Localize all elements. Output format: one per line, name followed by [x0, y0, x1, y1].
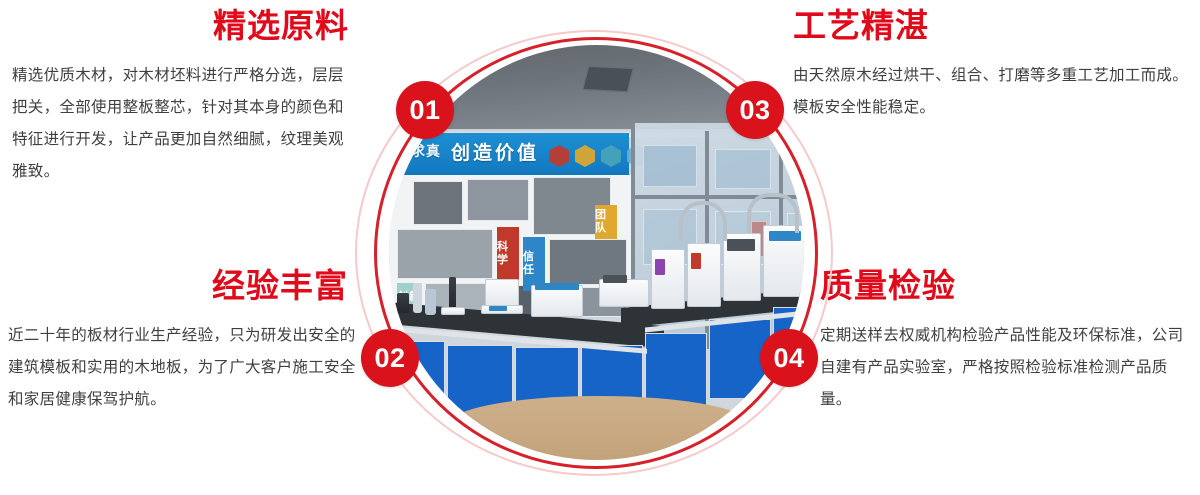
scene-glass-pane-photo: [643, 145, 697, 187]
feature-body-exquisite-craft: 由天然原木经过烘干、组合、打磨等多重工艺加工而成。模板安全性能稳定。: [793, 60, 1193, 124]
step-badge-03: 03: [726, 81, 784, 139]
scene-wall-label-science: 科学: [497, 227, 519, 281]
scene-analytical-balance: [485, 279, 519, 307]
scene-wall-photo: [467, 179, 529, 221]
feature-block-quality-inspection: 质量检验 定期送样去权威机构检验产品性能及环保标准，公司自建有产品实验室，严格按…: [820, 268, 1195, 416]
scene-ceiling-vent: [582, 66, 633, 92]
feature-title-quality-inspection: 质量检验: [820, 268, 1195, 304]
feature-title-exquisite-craft: 工艺精湛: [793, 8, 1193, 44]
feature-block-selected-materials: 精选原料 精选优质木材，对木材坯料进行严格分选，层层把关，全部使用整板整芯，针对…: [12, 8, 357, 188]
feature-title-selected-materials: 精选原料: [12, 8, 357, 44]
scene-banner-title: 创造价值: [451, 138, 539, 165]
scene-gas-generator: [651, 249, 685, 309]
scene-generator-indicator: [691, 253, 701, 269]
scene-lab-stand-base: [441, 307, 465, 315]
scene-wall-label-team: 团队: [595, 205, 617, 239]
scene-banner-prefix: 求真: [411, 141, 441, 161]
feature-block-exquisite-craft: 工艺精湛 由天然原木经过烘干、组合、打磨等多重工艺加工而成。模板安全性能稳定。: [793, 8, 1193, 124]
scene-generator-indicator: [655, 259, 665, 275]
scene-reagent-bottle: [413, 283, 422, 313]
feature-highlights-infographic: 精选原料 精选优质木材，对木材坯料进行严格分选，层层把关，全部使用整板整芯，针对…: [0, 0, 1200, 495]
feature-title-rich-experience: 经验丰富: [8, 268, 358, 304]
feature-body-quality-inspection: 定期送样去权威机构检验产品性能及环保标准，公司自建有产品实验室，严格按照检验标准…: [820, 320, 1195, 416]
scene-glass-pane-photo: [715, 149, 771, 189]
scene-spectrophotometer-top: [603, 275, 627, 283]
step-badge-02: 02: [361, 329, 419, 387]
scene-reagent-bottle: [425, 289, 436, 315]
scene-exhaust-pipe: [679, 201, 727, 241]
scene-floor: [449, 396, 749, 460]
scene-wall-photo: [397, 229, 493, 279]
scene-balance-display: [489, 306, 507, 311]
scene-bench-item: [397, 293, 409, 313]
scene-spectrophotometer: [599, 279, 649, 307]
scene-water-bath-lid: [535, 283, 579, 290]
scene-wall-photo: [413, 181, 463, 225]
feature-block-rich-experience: 经验丰富 近二十年的板材行业生产经验，只为研发出安全的建筑模板和实用的木地板，为…: [8, 268, 358, 416]
step-badge-04: 04: [760, 329, 818, 387]
scene-generator-display: [727, 239, 755, 251]
feature-body-rich-experience: 近二十年的板材行业生产经验，只为研发出安全的建筑模板和实用的木地板，为了广大客户…: [8, 320, 358, 416]
feature-body-selected-materials: 精选优质木材，对木材坯料进行严格分选，层层把关，全部使用整板整芯，针对其本身的颜…: [12, 60, 357, 188]
scene-exhaust-pipe: [747, 193, 799, 233]
step-badge-01: 01: [396, 81, 454, 139]
